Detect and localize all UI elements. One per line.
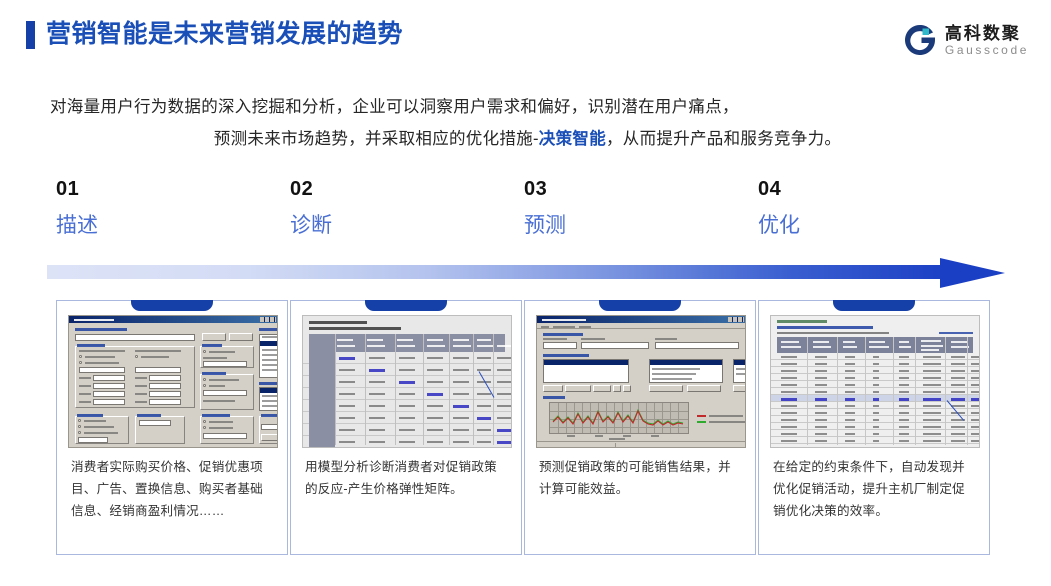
card-03[interactable]: 预测促销政策的可能销售结果，并计算可能效益。 (524, 300, 756, 555)
card-02-caption: 用模型分析诊断消费者对促销政策的反应-产生价格弹性矩阵。 (305, 456, 509, 500)
page-title: 营销智能是未来营销发展的趋势 (46, 17, 403, 51)
progress-arrow (47, 258, 1007, 288)
gausscode-logo-icon (902, 22, 938, 58)
rebate-program-description-dialog (68, 315, 278, 448)
card-04[interactable]: 在给定的约束条件下，自动发现并优化促销活动，提升主机厂制定促销优化决策的效率。 (758, 300, 990, 555)
lead-highlight: 决策智能 (539, 130, 606, 148)
step-item-01: 01 描述 (56, 176, 256, 243)
lead-line-2-after: ，从而提升产品和服务竞争力。 (606, 130, 841, 148)
arrow-bar (47, 265, 952, 279)
sales-simulation-chart-window (536, 315, 746, 448)
card-03-caption: 预测促销政策的可能销售结果，并计算可能效益。 (539, 456, 743, 500)
logo-wordmark: 高科数聚 Gausscode (945, 24, 1029, 57)
step-item-04: 04 优化 (758, 176, 958, 243)
logo-name-en: Gausscode (945, 43, 1029, 57)
arrow-head-icon (940, 258, 1005, 288)
step-label-02: 诊断 (290, 209, 490, 243)
step-item-03: 03 预测 (524, 176, 724, 243)
step-number-03: 03 (524, 176, 724, 202)
step-number-04: 04 (758, 176, 958, 202)
optimal-rebate-program-selection-table (770, 315, 980, 448)
price-elasticity-matrix-table (302, 315, 512, 448)
card-04-caption: 在给定的约束条件下，自动发现并优化促销活动，提升主机厂制定促销优化决策的效率。 (773, 456, 977, 522)
card-01-tab (131, 300, 213, 311)
card-04-tab (833, 300, 915, 311)
card-03-tab (599, 300, 681, 311)
step-number-01: 01 (56, 176, 256, 202)
brand-logo: 高科数聚 Gausscode (902, 18, 1029, 62)
card-01-caption: 消费者实际购买价格、促销优惠项目、广告、置换信息、购买者基础信息、经销商盈利情况… (71, 456, 275, 522)
title-accent-bar (26, 21, 35, 49)
slide-header: 营销智能是未来营销发展的趋势 高科数聚 Gausscode (0, 0, 1051, 75)
card-02-tab (365, 300, 447, 311)
card-02[interactable]: 用模型分析诊断消费者对促销政策的反应-产生价格弹性矩阵。 (290, 300, 522, 555)
step-label-row: 01 描述 02 诊断 03 预测 04 优化 (0, 176, 1051, 246)
step-label-03: 预测 (524, 209, 724, 243)
step-label-04: 优化 (758, 209, 958, 243)
card-01[interactable]: 消费者实际购买价格、促销优惠项目、广告、置换信息、购买者基础信息、经销商盈利情况… (56, 300, 288, 555)
step-number-02: 02 (290, 176, 490, 202)
lead-line-2-before: 预测未来市场趋势，并采取相应的优化措施- (214, 130, 539, 148)
lead-line-2: 预测未来市场趋势，并采取相应的优化措施-决策智能，从而提升产品和服务竞争力。 (50, 123, 1005, 155)
step-label-01: 描述 (56, 209, 256, 243)
step-item-02: 02 诊断 (290, 176, 490, 243)
slide-root: 营销智能是未来营销发展的趋势 高科数聚 Gausscode 对海量用户行为数据的… (0, 0, 1051, 586)
logo-name-cn: 高科数聚 (945, 24, 1029, 43)
lead-paragraph: 对海量用户行为数据的深入挖掘和分析，企业可以洞察用户需求和偏好，识别潜在用户痛点… (50, 91, 1005, 155)
lead-line-1: 对海量用户行为数据的深入挖掘和分析，企业可以洞察用户需求和偏好，识别潜在用户痛点… (50, 91, 1005, 123)
